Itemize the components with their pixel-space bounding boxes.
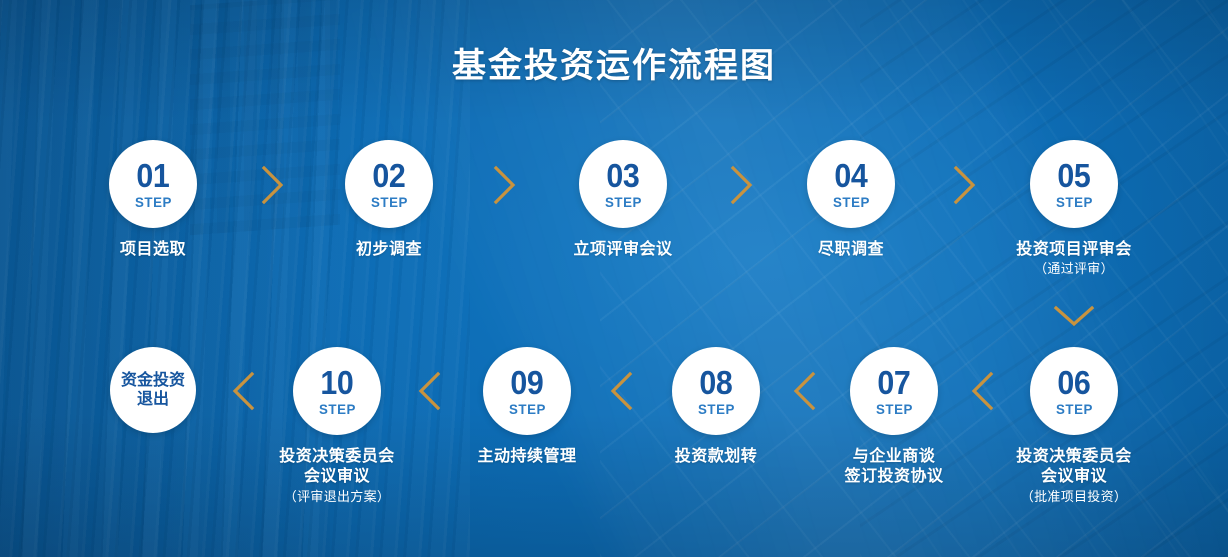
step-number-04: 04 [835, 159, 868, 192]
step-number-03: 03 [607, 159, 640, 192]
step-circle-06[interactable]: 06 STEP [1030, 347, 1118, 435]
step-caption-06: 投资决策委员会会议审议 [979, 447, 1169, 488]
step-number-08: 08 [700, 366, 733, 399]
step-node-03[interactable]: 03 STEP 立项评审会议 [528, 140, 718, 261]
step-subcaption-10: （评审退出方案） [242, 489, 432, 505]
step-caption-01: 项目选取 [58, 240, 248, 260]
step-number-06: 06 [1058, 366, 1091, 399]
step-caption-09: 主动持续管理 [432, 447, 622, 467]
step-subcaption-06: （批准项目投资） [979, 489, 1169, 505]
step-word-05: STEP [1055, 195, 1092, 209]
chevron-right-icon-2 [492, 164, 518, 206]
exit-label-line-2: 退出 [121, 390, 185, 409]
chevron-right-icon-4 [952, 164, 978, 206]
step-node-01[interactable]: 01 STEP 项目选取 [58, 140, 248, 261]
step-node-06[interactable]: 06 STEP 投资决策委员会会议审议 （批准项目投资） [979, 347, 1169, 505]
step-circle-02[interactable]: 02 STEP [345, 140, 433, 228]
chevron-right-icon-1 [260, 164, 286, 206]
step-circle-04[interactable]: 04 STEP [807, 140, 895, 228]
step-number-09: 09 [511, 366, 544, 399]
exit-label-line-1: 资金投资 [121, 371, 185, 390]
step-circle-07[interactable]: 07 STEP [850, 347, 938, 435]
step-caption-10: 投资决策委员会会议审议 [242, 447, 432, 488]
step-number-07: 07 [878, 366, 911, 399]
step-word-08: STEP [697, 402, 734, 416]
step-word-02: STEP [370, 195, 407, 209]
step-word-07: STEP [875, 402, 912, 416]
step-number-10: 10 [321, 366, 354, 399]
step-number-02: 02 [373, 159, 406, 192]
step-number-01: 01 [137, 159, 170, 192]
step-circle-10[interactable]: 10 STEP [293, 347, 381, 435]
step-circle-09[interactable]: 09 STEP [483, 347, 571, 435]
step-subcaption-05: （通过评审） [979, 261, 1169, 277]
chevron-right-icon-3 [729, 164, 755, 206]
step-word-06: STEP [1055, 402, 1092, 416]
step-node-08[interactable]: 08 STEP 投资款划转 [621, 347, 811, 468]
step-node-10[interactable]: 10 STEP 投资决策委员会会议审议 （评审退出方案） [242, 347, 432, 505]
step-word-03: STEP [604, 195, 641, 209]
step-circle-03[interactable]: 03 STEP [579, 140, 667, 228]
page-title: 基金投资运作流程图 [0, 38, 1228, 87]
step-word-10: STEP [318, 402, 355, 416]
step-caption-07: 与企业商谈签订投资协议 [799, 447, 989, 488]
chevron-down-icon [1052, 303, 1096, 329]
step-caption-02: 初步调查 [294, 240, 484, 260]
step-node-07[interactable]: 07 STEP 与企业商谈签订投资协议 [799, 347, 989, 489]
step-circle-01[interactable]: 01 STEP [109, 140, 197, 228]
step-caption-05: 投资项目评审会 [979, 240, 1169, 260]
step-circle-08[interactable]: 08 STEP [672, 347, 760, 435]
step-number-05: 05 [1058, 159, 1091, 192]
step-node-05[interactable]: 05 STEP 投资项目评审会 （通过评审） [979, 140, 1169, 278]
step-circle-05[interactable]: 05 STEP [1030, 140, 1118, 228]
step-node-09[interactable]: 09 STEP 主动持续管理 [432, 347, 622, 468]
step-word-01: STEP [134, 195, 171, 209]
step-caption-04: 尽职调查 [756, 240, 946, 260]
step-caption-08: 投资款划转 [621, 447, 811, 467]
step-node-02[interactable]: 02 STEP 初步调查 [294, 140, 484, 261]
step-word-09: STEP [508, 402, 545, 416]
step-word-04: STEP [832, 195, 869, 209]
exit-node[interactable]: 资金投资 退出 [58, 347, 248, 433]
step-node-04[interactable]: 04 STEP 尽职调查 [756, 140, 946, 261]
step-caption-03: 立项评审会议 [528, 240, 718, 260]
exit-circle[interactable]: 资金投资 退出 [110, 347, 196, 433]
flowchart-canvas: 基金投资运作流程图 01 STEP 项目选取 02 STEP 初步调查 03 S… [0, 0, 1228, 557]
